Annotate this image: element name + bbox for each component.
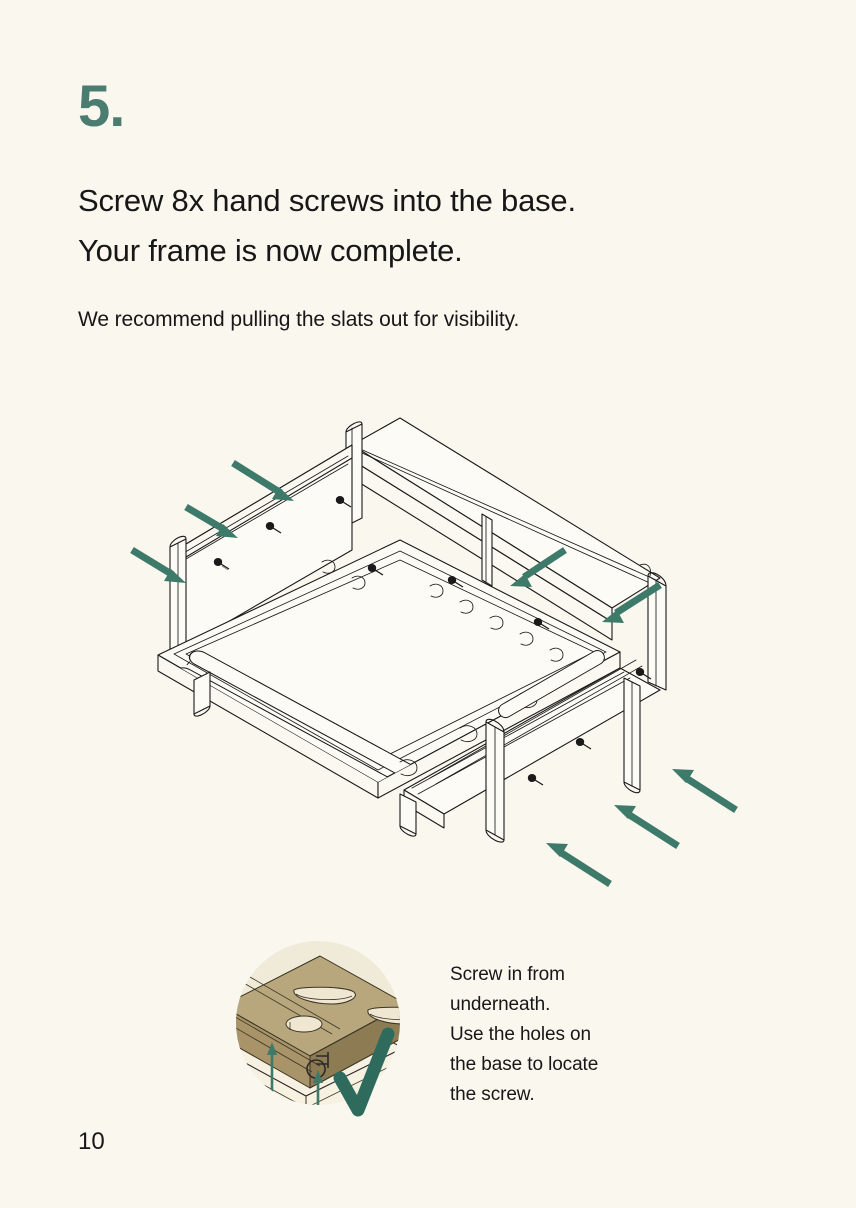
caption-line-4: the base to locate [450, 1050, 730, 1080]
arrow-front-3 [546, 843, 610, 884]
caption-line-1: Screw in from [450, 960, 730, 990]
detail-caption: Screw in from underneath. Use the holes … [450, 960, 730, 1110]
arrow-front-1 [672, 769, 736, 810]
page-number: 10 [78, 1128, 105, 1156]
subheading-text: We recommend pulling the slats out for v… [78, 305, 798, 334]
caption-line-3: Use the holes on [450, 1020, 730, 1050]
arrow-left-1 [233, 463, 294, 501]
detail-inset-circle: .w{fill:#a89468;stroke:#3a3424;stroke-wi… [228, 928, 418, 1128]
caption-line-5: the screw. [450, 1080, 730, 1110]
headline-line-1: Screw 8x hand screws into the base. [78, 183, 576, 218]
bed-frame-diagram: .ln{fill:none;stroke:#1a1a1a;stroke-widt… [100, 390, 800, 910]
instruction-page: 5. Screw 8x hand screws into the base. Y… [0, 0, 856, 1208]
arrow-front-2 [614, 805, 678, 846]
headline-line-2: Your frame is now complete. [78, 226, 778, 276]
page-title: Screw 8x hand screws into the base. Your… [78, 176, 778, 276]
step-number: 5. [78, 78, 124, 136]
caption-line-2: underneath. [450, 990, 730, 1020]
